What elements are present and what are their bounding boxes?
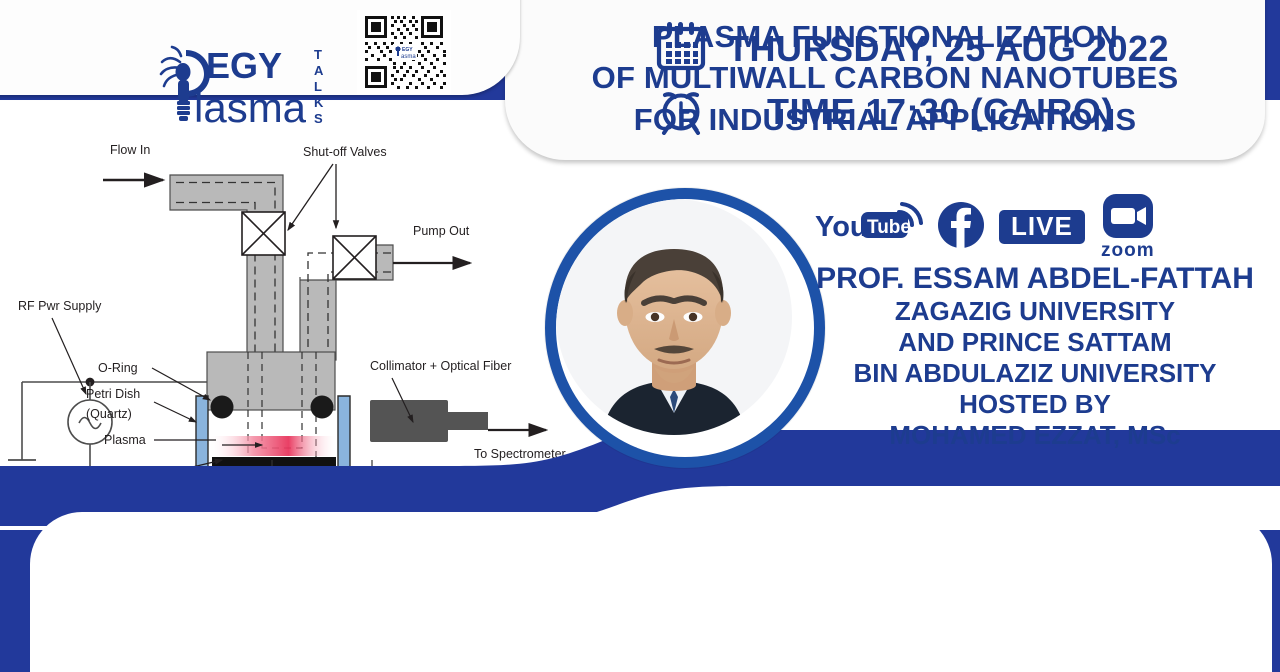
speaker-affiliation-3: BIN ABDULAZIZ UNIVERSITY: [790, 358, 1280, 389]
event-time-row: TIME 17:30 (CAIRO): [655, 83, 1169, 140]
facebook-icon[interactable]: [937, 201, 985, 254]
svg-text:You: You: [815, 211, 868, 243]
footer-panel: [30, 512, 1272, 672]
shutoff-valve-2: [333, 236, 376, 279]
qr-code[interactable]: EGY asma: [357, 10, 451, 94]
live-badge: LIVE: [999, 210, 1085, 244]
hosted-by-label: HOSTED BY: [790, 389, 1280, 420]
egy-plasma-talks-logo[interactable]: EGY lasma T A L K S: [150, 44, 350, 136]
o-ring-right: [311, 396, 334, 419]
shutoff-valve-1: [242, 212, 285, 255]
event-date-row: THURSDAY, 25 AUG 2022: [655, 20, 1169, 77]
label-o-ring: O-Ring: [98, 361, 138, 375]
label-pump-out: Pump Out: [413, 224, 470, 238]
label-petri-dish: Petri Dish: [86, 387, 140, 401]
logo-talks-text: T A L K S: [314, 47, 324, 126]
logo-plasma-text: lasma: [194, 84, 307, 131]
label-rf-power-supply: RF Pwr Supply: [18, 299, 102, 313]
svg-text:K: K: [314, 95, 324, 110]
inlet-pipe: [170, 175, 283, 360]
svg-text:S: S: [314, 111, 323, 126]
label-flow-in: Flow In: [110, 143, 150, 157]
speaker-affiliation-2: AND PRINCE SATTAM: [790, 327, 1280, 358]
event-date: THURSDAY, 25 AUG 2022: [727, 28, 1169, 70]
o-ring-left: [211, 396, 234, 419]
logo-egy-text: EGY: [206, 45, 282, 86]
svg-text:L: L: [314, 79, 322, 94]
svg-text:A: A: [314, 63, 324, 78]
speaker-name: PROF. ESSAM ABDEL-FATTAH: [790, 262, 1280, 296]
speaker-affiliation-1: ZAGAZIG UNIVERSITY: [790, 296, 1280, 327]
broadcast-channels: You Tube LIVE zoom: [815, 186, 1175, 268]
webinar-poster: Flow In Shut-off Valves Pump Out: [0, 0, 1280, 672]
zoom-icon[interactable]: zoom: [1099, 193, 1157, 262]
svg-text:T: T: [314, 47, 322, 62]
host-name: MOHAMED EZZAT, MSc: [790, 420, 1280, 451]
speaker-info: PROF. ESSAM ABDEL-FATTAH ZAGAZIG UNIVERS…: [790, 262, 1280, 452]
svg-text:asma: asma: [401, 54, 416, 60]
alarm-clock-icon: [655, 83, 707, 140]
label-collimator: Collimator + Optical Fiber: [370, 359, 511, 373]
label-shutoff-valves: Shut-off Valves: [303, 145, 387, 159]
svg-text:EGY: EGY: [402, 47, 413, 53]
label-petri-dish-material: (Quartz): [86, 407, 132, 421]
event-details: THURSDAY, 25 AUG 2022 TIME 17:30 (CAIRO): [655, 20, 1169, 146]
zoom-label: zoom: [1101, 240, 1155, 262]
calendar-icon: [655, 20, 707, 77]
speaker-avatar: [545, 188, 825, 468]
youtube-live-icon[interactable]: You Tube: [815, 198, 923, 257]
svg-text:Tube: Tube: [867, 217, 911, 238]
event-time: TIME 17:30 (CAIRO): [767, 91, 1114, 133]
